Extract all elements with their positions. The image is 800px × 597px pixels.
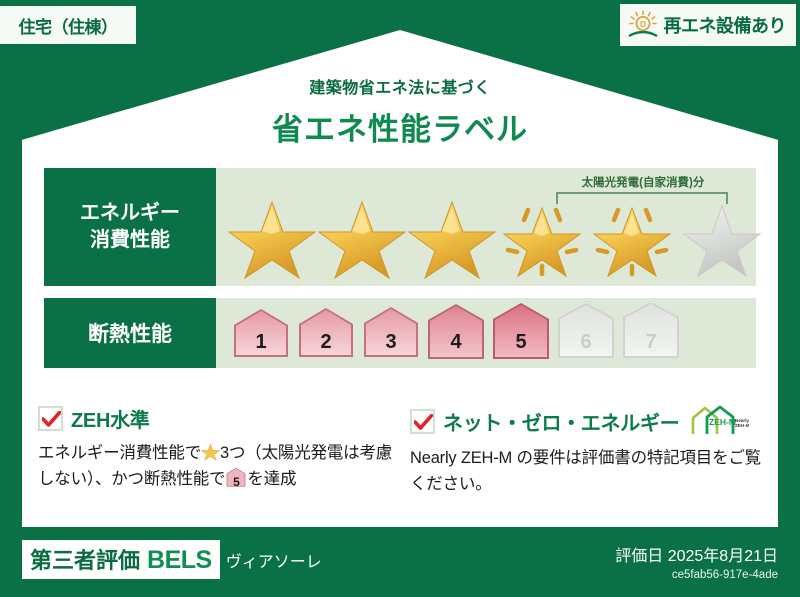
- page-title: 省エネ性能ラベル: [0, 104, 800, 149]
- energy-performance-rating: 太陽光発電(自家消費)分: [216, 168, 756, 286]
- insulation-grade-3: 3: [360, 303, 422, 363]
- property-name: ヴィアソーレ: [226, 548, 322, 572]
- zeh-standard-block: ZEH水準 エネルギー消費性能で3つ（太陽光発電は考慮しない）、かつ断熱性能で5…: [38, 404, 398, 492]
- building-type-tag-label: 住宅（住棟）: [19, 13, 118, 38]
- renewable-energy-tag: D 再エネ設備あり: [620, 4, 797, 46]
- insulation-grade-4-number: 4: [425, 331, 487, 354]
- energy-performance-label-line1: エネルギー: [80, 200, 180, 227]
- net-zero-energy-title: ネット・ゼロ・エネルギー: [443, 407, 679, 436]
- svg-text:ZEH-M: ZEH-M: [709, 417, 736, 427]
- insulation-grade-7: 7: [620, 303, 682, 363]
- svg-text:D: D: [640, 20, 646, 29]
- insulation-grade-5-achieved: 5: [490, 303, 552, 363]
- insulation-grade-inline-icon: 5: [225, 468, 247, 488]
- insulation-grade-5-number: 5: [490, 331, 552, 354]
- star-1: [228, 194, 316, 280]
- zeh-standard-body-part3: を達成: [247, 470, 296, 488]
- renewable-energy-tag-label: 再エネ設備あり: [664, 12, 787, 38]
- insulation-grade-6-number: 6: [555, 331, 617, 354]
- star-2: [318, 194, 406, 280]
- solar-caption: 太陽光発電(自家消費)分: [548, 174, 738, 190]
- energy-performance-label-line2: 消費性能: [90, 227, 170, 254]
- insulation-grade-3-number: 3: [360, 331, 422, 354]
- star-rating: [228, 194, 766, 280]
- zeh-m-logo: ZEH-M Nearly ZEH-M: [687, 404, 749, 438]
- insulation-grade-scale: 1 2 3: [216, 298, 756, 368]
- net-zero-energy-block: ネット・ゼロ・エネルギー ZEH-M Nearly ZEH-M Nearly Z…: [410, 404, 770, 497]
- checkmark-icon: [38, 406, 63, 431]
- star-icon: [201, 442, 220, 461]
- solar-sun-icon: D: [626, 9, 660, 41]
- svg-text:ZEH-M: ZEH-M: [735, 423, 749, 428]
- insulation-grade-7-number: 7: [620, 331, 682, 354]
- insulation-grade-inline-number: 5: [225, 476, 247, 488]
- energy-performance-row: エネルギー 消費性能 太陽光発電(自家消費)分: [44, 168, 756, 286]
- title-subtitle: 建築物省エネ法に基づく: [0, 74, 800, 98]
- net-zero-energy-body: Nearly ZEH-M の要件は評価書の特記項目をご覧ください。: [410, 446, 770, 497]
- zeh-standard-body-part1: エネルギー消費性能で: [38, 444, 201, 462]
- net-zero-energy-header: ネット・ゼロ・エネルギー ZEH-M Nearly ZEH-M: [410, 404, 770, 438]
- star-5-solar: [588, 194, 676, 280]
- star-3: [408, 194, 496, 280]
- insulation-grade-1: 1: [230, 303, 292, 363]
- star-4-solar: [498, 194, 586, 280]
- checkmark-icon: [410, 409, 435, 434]
- insulation-grade-2-number: 2: [295, 331, 357, 354]
- evaluation-date: 評価日 2025年8月21日: [615, 542, 778, 566]
- zeh-standard-body: エネルギー消費性能で3つ（太陽光発電は考慮しない）、かつ断熱性能で5を達成: [38, 441, 398, 492]
- insulation-grade-list: 1 2 3: [230, 303, 682, 363]
- zeh-standard-title: ZEH水準: [71, 404, 150, 433]
- energy-performance-label: エネルギー 消費性能: [44, 168, 216, 286]
- evaluation-info: 評価日 2025年8月21日 ce5fab56-917e-4ade: [615, 542, 778, 581]
- bels-badge: 第三者評価 BELS: [22, 540, 220, 579]
- insulation-grade-1-number: 1: [230, 331, 292, 354]
- insulation-grade-6: 6: [555, 303, 617, 363]
- insulation-performance-label: 断熱性能: [44, 298, 216, 368]
- evaluation-id: ce5fab56-917e-4ade: [615, 569, 778, 581]
- insulation-performance-label-text: 断熱性能: [88, 318, 172, 348]
- insulation-grade-2: 2: [295, 303, 357, 363]
- insulation-performance-row: 断熱性能 1: [44, 298, 756, 368]
- insulation-grade-4: 4: [425, 303, 487, 363]
- zeh-standard-header: ZEH水準: [38, 404, 398, 433]
- title-block: 建築物省エネ法に基づく 省エネ性能ラベル: [0, 74, 800, 149]
- building-type-tag: 住宅（住棟）: [0, 6, 136, 44]
- bels-footer: 第三者評価 BELS ヴィアソーレ: [22, 540, 322, 579]
- star-6-empty: [678, 194, 766, 280]
- bels-badge-jp: 第三者評価: [30, 543, 140, 575]
- bels-badge-en: BELS: [147, 546, 212, 575]
